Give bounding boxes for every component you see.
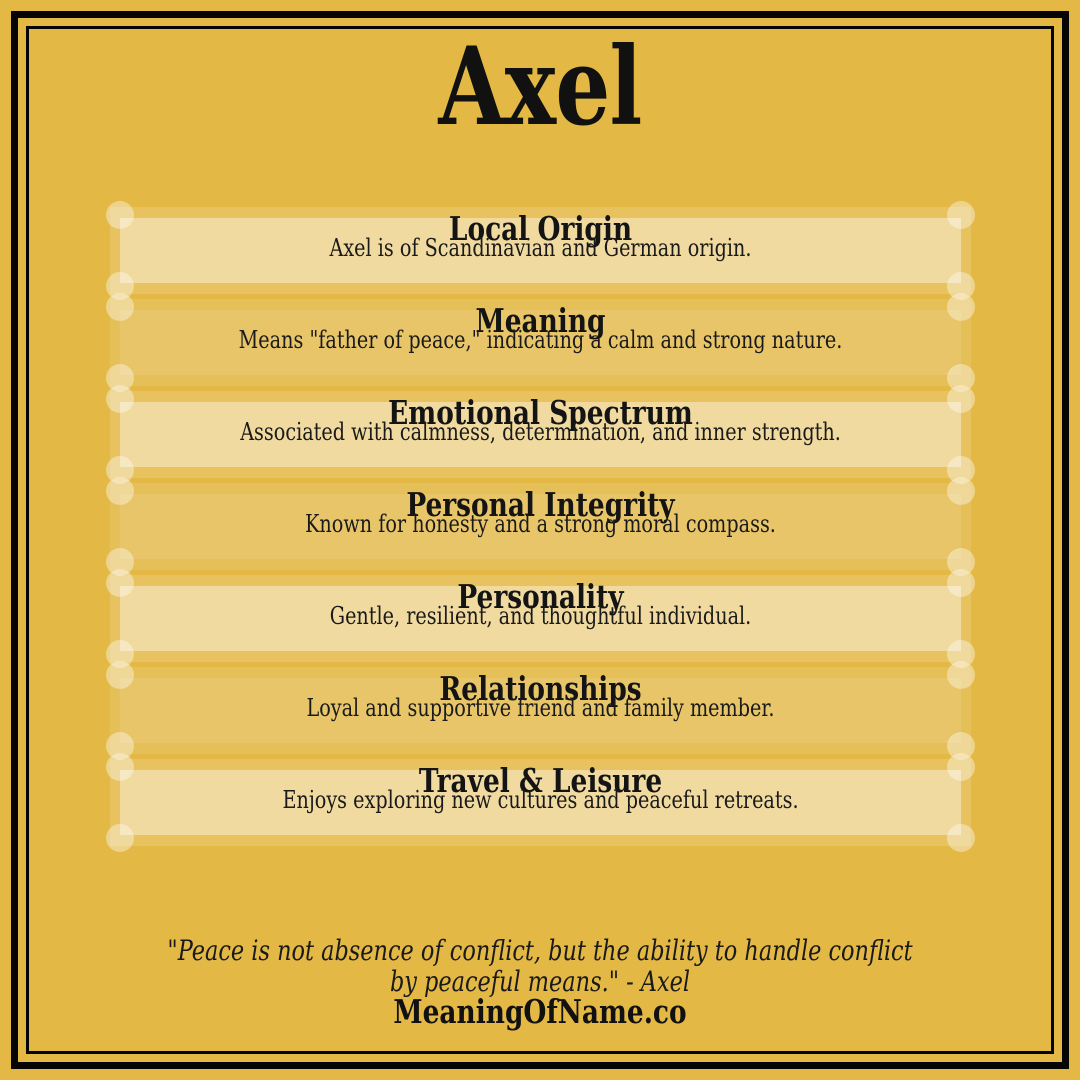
section-description: Associated with calmness, determination,… xyxy=(204,421,877,443)
poster-footer: "Peace is not absence of conflict, but t… xyxy=(60,935,1020,1029)
section-description: Enjoys exploring new cultures and peacef… xyxy=(204,789,877,811)
section-card: PersonalityGentle, resilient, and though… xyxy=(110,575,971,662)
section-description: Gentle, resilient, and thoughtful indivi… xyxy=(204,605,877,627)
card-corner-knob-br-icon xyxy=(947,824,975,852)
section-card-text: Emotional SpectrumAssociated with calmne… xyxy=(120,393,961,443)
section-description: Axel is of Scandinavian and German origi… xyxy=(204,237,877,259)
section-card: Emotional SpectrumAssociated with calmne… xyxy=(110,391,971,478)
poster-content: Axel Local OriginAxel is of Scandinavian… xyxy=(0,0,1080,1080)
quote-text: "Peace is not absence of conflict, but t… xyxy=(156,935,924,997)
section-card-text: MeaningMeans "father of peace," indicati… xyxy=(120,301,961,351)
card-corner-knob-bl-icon xyxy=(106,824,134,852)
section-card: MeaningMeans "father of peace," indicati… xyxy=(110,299,971,386)
section-card-text: RelationshipsLoyal and supportive friend… xyxy=(120,669,961,719)
section-card-text: Personal IntegrityKnown for honesty and … xyxy=(120,485,961,535)
section-card-text: PersonalityGentle, resilient, and though… xyxy=(120,577,961,627)
section-card-text: Local OriginAxel is of Scandinavian and … xyxy=(120,209,961,259)
section-card: Local OriginAxel is of Scandinavian and … xyxy=(110,207,971,294)
section-card: Personal IntegrityKnown for honesty and … xyxy=(110,483,971,570)
sections-list: Local OriginAxel is of Scandinavian and … xyxy=(110,207,971,851)
section-card: RelationshipsLoyal and supportive friend… xyxy=(110,667,971,754)
section-description: Known for honesty and a strong moral com… xyxy=(204,513,877,535)
section-description: Means "father of peace," indicating a ca… xyxy=(204,329,877,351)
section-card-text: Travel & LeisureEnjoys exploring new cul… xyxy=(120,761,961,811)
page-title: Axel xyxy=(108,33,972,141)
section-description: Loyal and supportive friend and family m… xyxy=(204,697,877,719)
section-card: Travel & LeisureEnjoys exploring new cul… xyxy=(110,759,971,846)
name-meaning-poster: Axel Local OriginAxel is of Scandinavian… xyxy=(0,0,1080,1080)
brand-watermark: MeaningOfName.co xyxy=(156,995,924,1029)
